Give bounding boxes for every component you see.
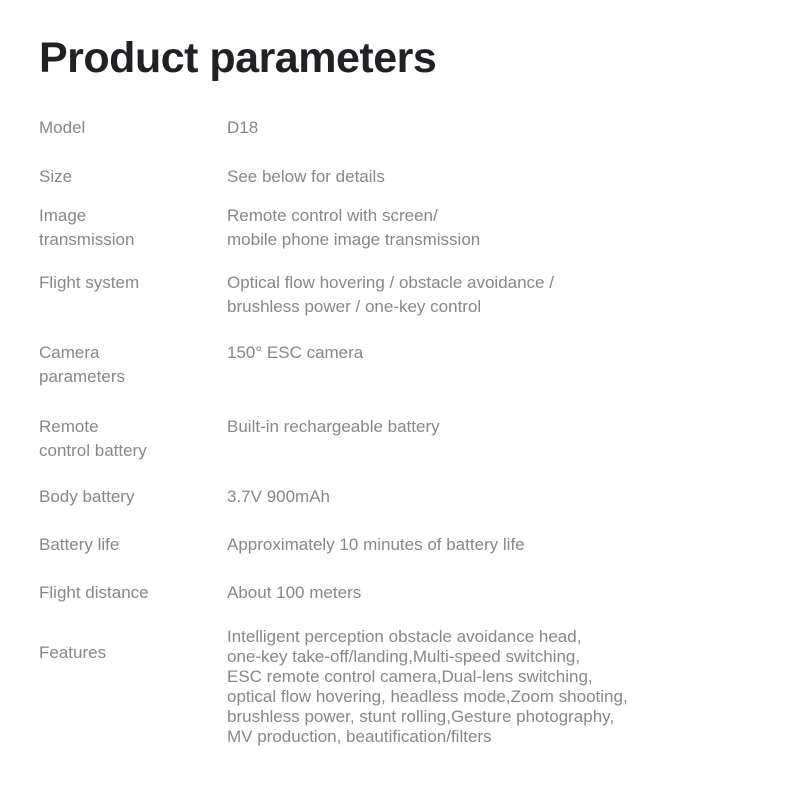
spec-row-flight-distance: Flight distance About 100 meters xyxy=(39,581,739,605)
spec-value-line: Approximately 10 minutes of battery life xyxy=(227,533,739,557)
spec-value-line: About 100 meters xyxy=(227,581,739,605)
spec-row-features: Features Intelligent perception obstacle… xyxy=(39,627,739,747)
spec-value-line: D18 xyxy=(227,116,739,140)
spec-value-line: 150° ESC camera xyxy=(227,341,739,365)
spec-label-model: Model xyxy=(39,116,227,140)
spec-value-line: Intelligent perception obstacle avoidanc… xyxy=(227,627,739,647)
spec-value-line: brushless power / one-key control xyxy=(227,295,739,319)
spec-row-remote-control-battery: Remote control battery Built-in recharge… xyxy=(39,415,739,463)
spec-label-line: transmission xyxy=(39,228,219,252)
spec-label-line: Model xyxy=(39,116,219,140)
spec-value-camera-parameters: 150° ESC camera xyxy=(227,341,739,365)
spec-label-line: Features xyxy=(39,641,219,665)
spec-label-line: parameters xyxy=(39,365,219,389)
spec-label-line: Flight system xyxy=(39,271,219,295)
spec-label-image-transmission: Image transmission xyxy=(39,204,227,252)
spec-value-battery-life: Approximately 10 minutes of battery life xyxy=(227,533,739,557)
spec-value-line: one-key take-off/landing,Multi-speed swi… xyxy=(227,647,739,667)
specifications-table: Model D18 Size See below for details Ima… xyxy=(39,116,739,747)
spec-label-features: Features xyxy=(39,627,227,665)
spec-row-flight-system: Flight system Optical flow hovering / ob… xyxy=(39,271,739,319)
spec-value-image-transmission: Remote control with screen/ mobile phone… xyxy=(227,204,739,252)
spec-label-line: Image xyxy=(39,204,219,228)
spec-value-remote-control-battery: Built-in rechargeable battery xyxy=(227,415,739,439)
spec-value-line: MV production, beautification/filters xyxy=(227,727,739,747)
spec-label-line: Camera xyxy=(39,341,219,365)
spec-value-line: brushless power, stunt rolling,Gesture p… xyxy=(227,707,739,727)
spec-label-battery-life: Battery life xyxy=(39,533,227,557)
spec-value-line: 3.7V 900mAh xyxy=(227,485,739,509)
spec-value-size: See below for details xyxy=(227,165,739,189)
spec-value-body-battery: 3.7V 900mAh xyxy=(227,485,739,509)
spec-row-model: Model D18 xyxy=(39,116,739,140)
spec-value-features: Intelligent perception obstacle avoidanc… xyxy=(227,627,739,747)
spec-value-flight-system: Optical flow hovering / obstacle avoidan… xyxy=(227,271,739,319)
spec-value-line: Optical flow hovering / obstacle avoidan… xyxy=(227,271,739,295)
spec-row-body-battery: Body battery 3.7V 900mAh xyxy=(39,485,739,509)
spec-label-line: Size xyxy=(39,165,219,189)
product-parameters-page: Product parameters Model D18 Size See be… xyxy=(0,0,790,790)
spec-label-line: control battery xyxy=(39,439,219,463)
spec-value-line: ESC remote control camera,Dual-lens swit… xyxy=(227,667,739,687)
spec-row-camera-parameters: Camera parameters 150° ESC camera xyxy=(39,341,739,389)
spec-value-line: mobile phone image transmission xyxy=(227,228,739,252)
spec-label-line: Flight distance xyxy=(39,581,219,605)
spec-row-image-transmission: Image transmission Remote control with s… xyxy=(39,204,739,252)
spec-label-line: Remote xyxy=(39,415,219,439)
spec-label-body-battery: Body battery xyxy=(39,485,227,509)
spec-value-line: See below for details xyxy=(227,165,739,189)
spec-label-camera-parameters: Camera parameters xyxy=(39,341,227,389)
spec-label-flight-distance: Flight distance xyxy=(39,581,227,605)
spec-value-flight-distance: About 100 meters xyxy=(227,581,739,605)
spec-value-line: Remote control with screen/ xyxy=(227,204,739,228)
spec-label-line: Body battery xyxy=(39,485,219,509)
spec-label-line: Battery life xyxy=(39,533,219,557)
spec-value-line: Built-in rechargeable battery xyxy=(227,415,739,439)
spec-row-size: Size See below for details xyxy=(39,165,739,189)
spec-label-size: Size xyxy=(39,165,227,189)
spec-label-remote-control-battery: Remote control battery xyxy=(39,415,227,463)
spec-row-battery-life: Battery life Approximately 10 minutes of… xyxy=(39,533,739,557)
spec-value-model: D18 xyxy=(227,116,739,140)
page-title: Product parameters xyxy=(39,30,436,86)
spec-value-line: optical flow hovering, headless mode,Zoo… xyxy=(227,687,739,707)
spec-label-flight-system: Flight system xyxy=(39,271,227,295)
